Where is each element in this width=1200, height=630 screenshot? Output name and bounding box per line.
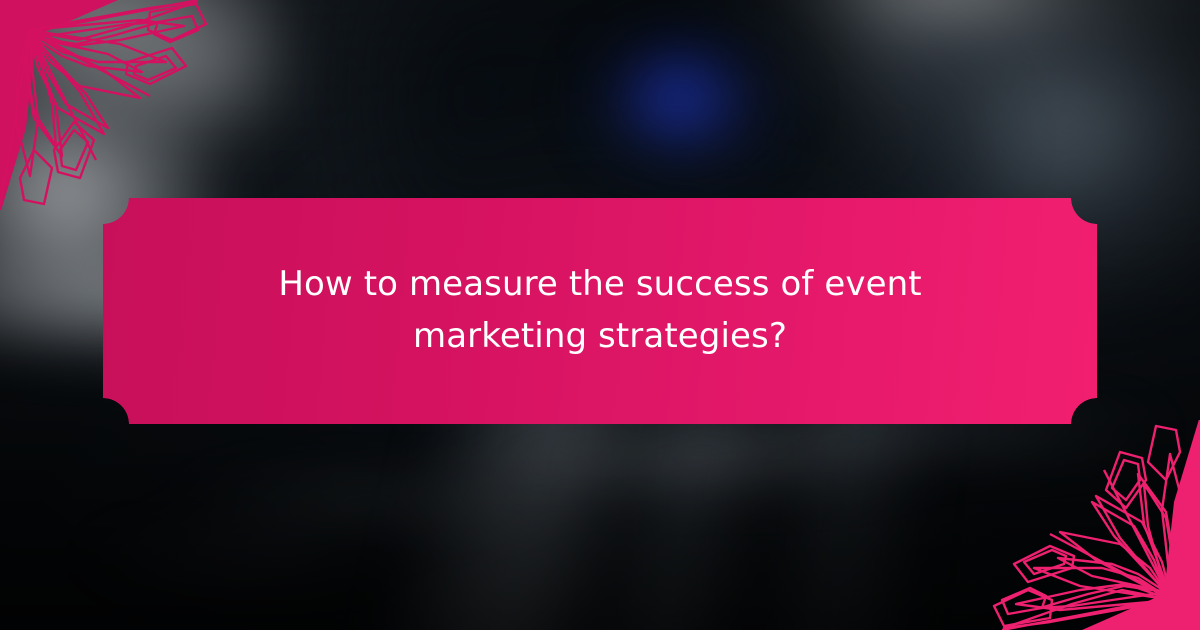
title-card: How to measure the success of event mark…	[103, 198, 1097, 424]
card-title: How to measure the success of event mark…	[270, 259, 930, 362]
share-card-canvas: How to measure the success of event mark…	[0, 0, 1200, 630]
